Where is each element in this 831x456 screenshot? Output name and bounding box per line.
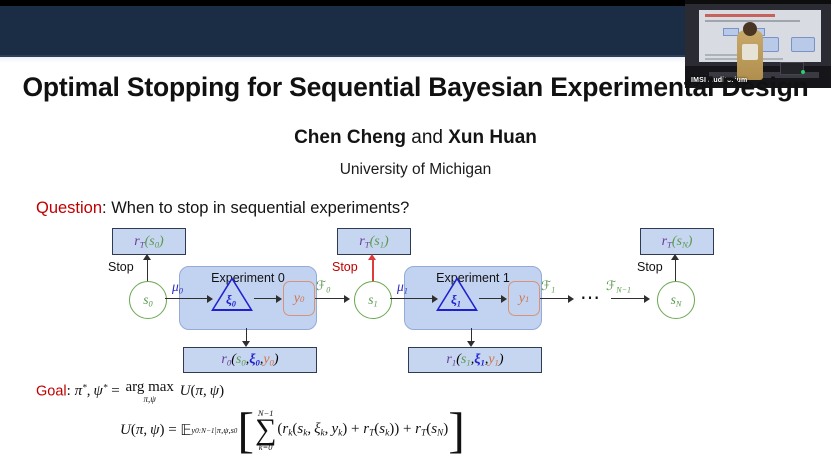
edge-arrow-xi1-y1 [501,295,507,303]
state-node-s0: s0 [129,281,167,319]
author-first: Chen Cheng [294,127,406,148]
eq-sum-lower: k=0 [259,443,273,452]
eq-sum-symbol: ∑ [255,417,276,443]
eq-summation: N−1 ∑ k=0 [255,409,276,452]
eq-expectation: 𝔼 [180,421,191,440]
transition-label-F0: ℱ0 [316,278,330,294]
edge-s1-to-exp1 [390,298,434,299]
goal-keyword: Goal [36,383,67,399]
question-line: Question: When to stop in sequential exp… [36,199,409,218]
edge-arrow-exp1-outgoing [568,295,574,303]
stop-label-0: Stop [108,260,134,274]
observation-box-y1: y1 [508,281,540,316]
edge-to-sN [611,298,647,299]
question-text: : When to stop in sequential experiments… [102,199,409,217]
eq-lhs: U [120,422,131,439]
presentation-slide: IMSI Auditorium Optimal Stopping for Seq… [0,0,831,456]
eq-right-bracket: ] [448,411,465,450]
stop-arrow-head-1 [368,254,376,260]
terminal-reward-box-s1: rT(s1) [337,228,411,255]
edge-xi1-to-y1 [479,298,503,299]
state-node-sN: sN [657,281,695,319]
stop-label-1: Stop [332,260,358,274]
stage-reward-box-0: r0(s0,ξ0,y0) [183,347,317,373]
eq-summand: (rk(sk, ξk, yk) + rT(sk)) + rT(sN) [277,421,448,439]
state-node-s1: s1 [354,281,392,319]
edge-arrow-to-sN [644,295,650,303]
slide-title: Optimal Stopping for Sequential Bayesian… [0,72,831,103]
stage-reward-box-1: r1(s1,ξ1,y1) [408,347,542,373]
stop-arrow-head-0 [143,254,151,260]
slide-authors: Chen Cheng and Xun Huan [0,127,831,149]
transition-label-FN1: ℱN−1 [606,278,631,294]
author-conjunction: and [406,127,448,148]
slide-affiliation: University of Michigan [0,161,831,179]
diagram-ellipsis: ⋯ [580,285,602,310]
design-label-xi1: ξ1 [451,292,461,308]
terminal-reward-box-s0: rT(s0) [112,228,186,255]
stop-arrow-head-N [671,254,679,260]
stop-label-N: Stop [637,260,663,274]
utility-equation: U(π, ψ) = 𝔼y0:N−1|π,ψ,s0 [ N−1 ∑ k=0 (rk… [120,404,465,456]
design-label-xi0: ξ0 [226,292,236,308]
policy-label-mu0: μ0 [172,279,183,295]
eq-left-bracket: [ [237,411,254,450]
sequential-experiment-diagram: rT(s0) rT(s1) rT(sN) Stop Stop Stop s0 s… [0,222,831,377]
edge-xi0-to-y0 [254,298,278,299]
edge-arrow-xi0-y0 [276,295,282,303]
goal-formula: : π*, ψ* = arg max π,ψ U(π, ψ) [67,383,224,399]
observation-box-y0: y0 [283,281,315,316]
speaker-head [743,22,757,36]
transition-label-F1: ℱ1 [541,278,555,294]
edge-s0-to-exp0 [165,298,209,299]
goal-line: Goal: π*, ψ* = arg max π,ψ U(π, ψ) [36,380,224,404]
speaker-shirt [742,44,758,60]
author-second: Xun Huan [448,127,537,148]
question-keyword: Question [36,199,102,217]
edge-arrow-exp0-s1 [344,295,350,303]
policy-label-mu1: μ1 [397,279,408,295]
eq-expectation-subscript: y0:N−1|π,ψ,s0 [191,425,237,435]
terminal-reward-box-sN: rT(sN) [640,228,714,255]
